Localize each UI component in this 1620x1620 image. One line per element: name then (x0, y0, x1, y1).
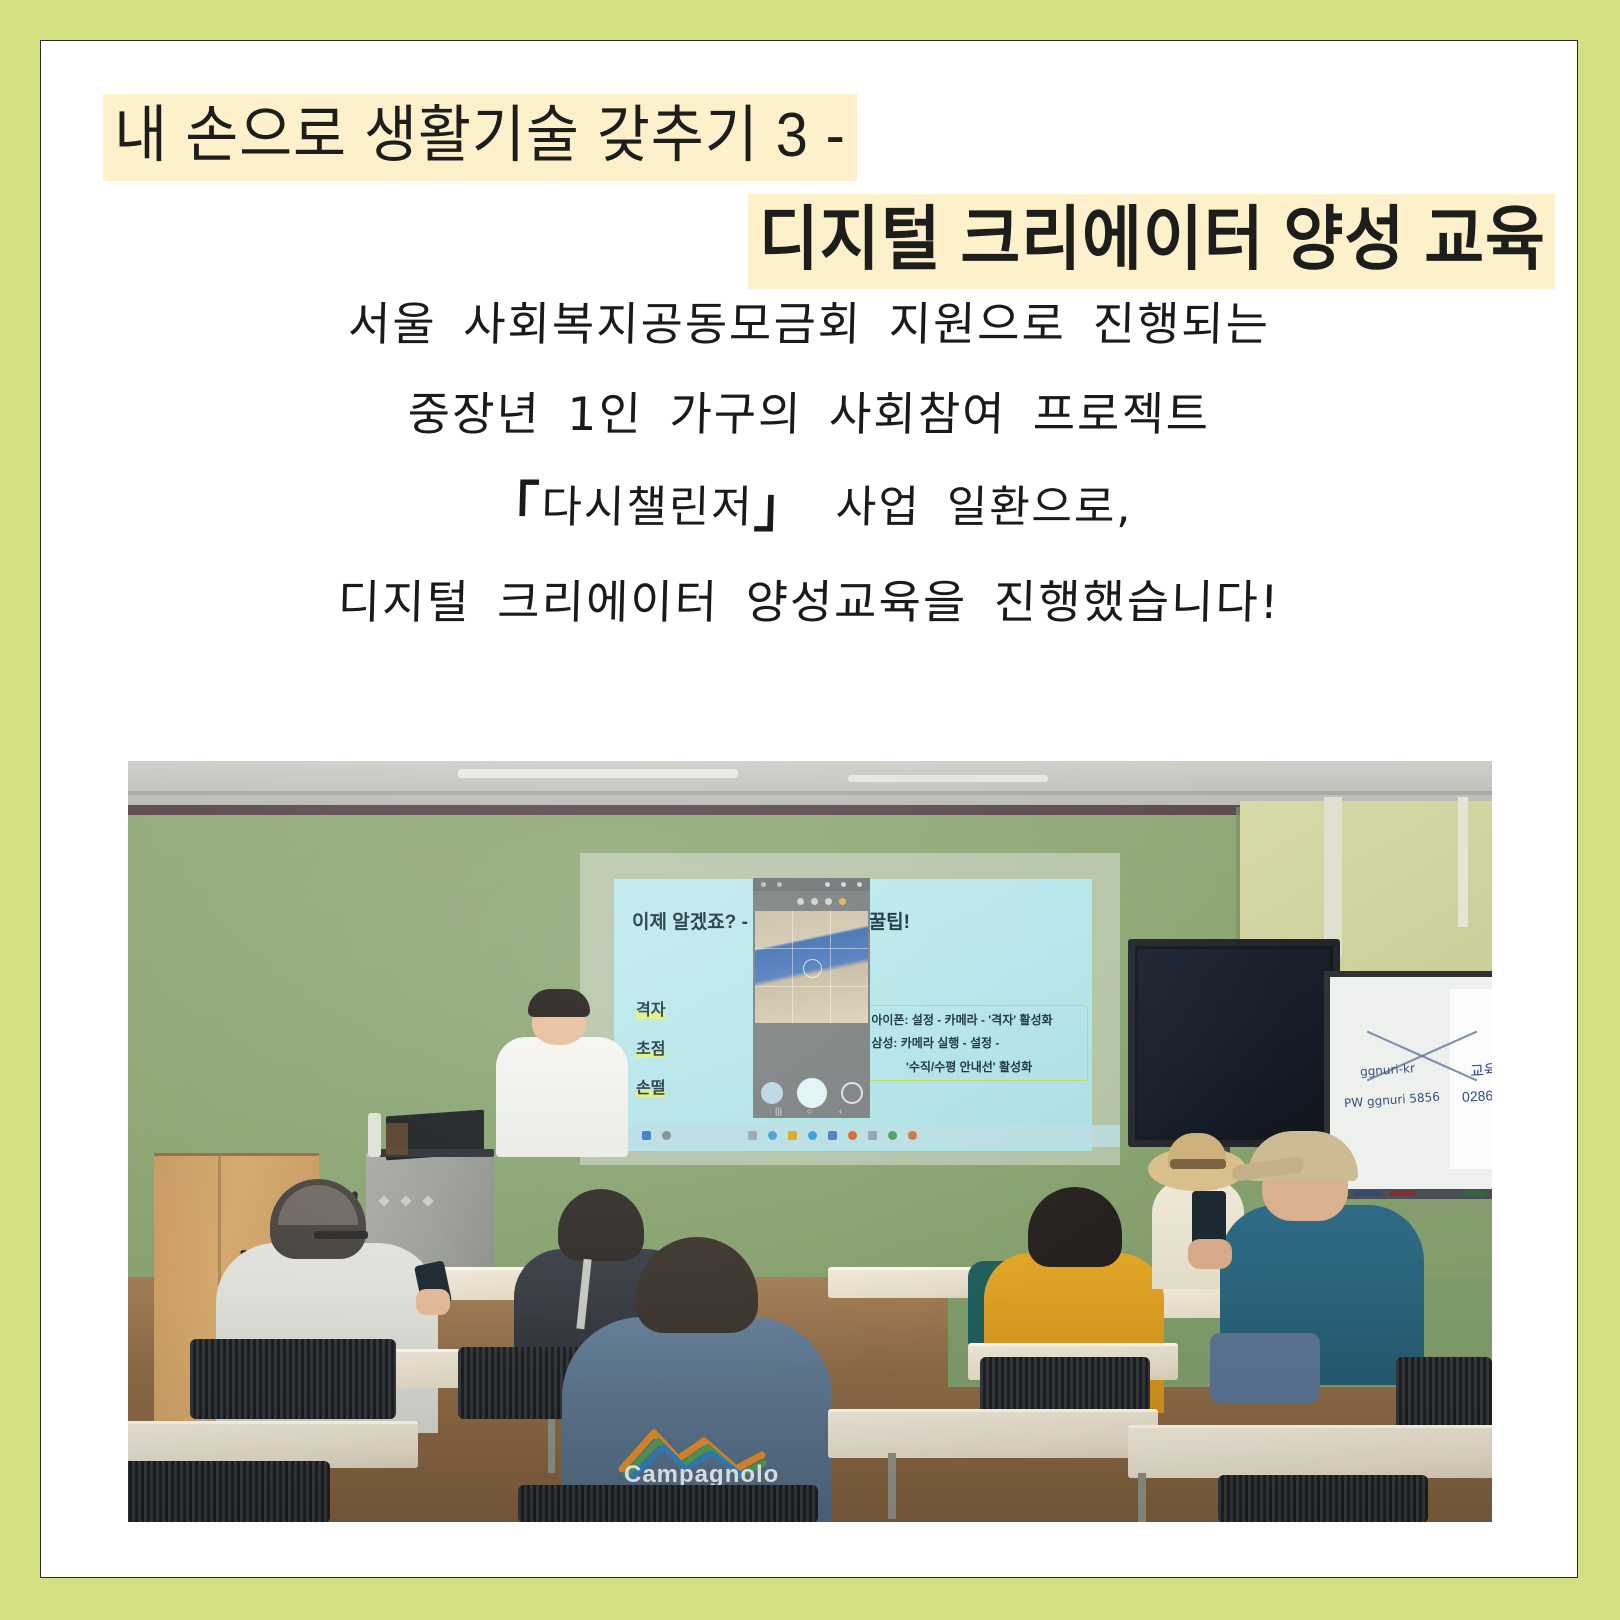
zoom-icon[interactable] (908, 1131, 917, 1140)
description-line-3: 「다시챌린저」 사업 일환으로, (40, 481, 1577, 535)
student-1-hand (416, 1289, 450, 1315)
description-line-4: 디지털 크리에이터 양성교육을 진행했습니다! (40, 579, 1577, 625)
ppt-icon[interactable] (828, 1131, 837, 1140)
slide-bullets: · 아이폰: 설정 - 카메라 - '격자' 활성화 · 삼성: 카메라 실행 … (864, 1009, 1086, 1079)
window-blind (1324, 797, 1342, 957)
home-icon[interactable]: ○ (807, 1106, 812, 1116)
chair-front-2 (1218, 1475, 1428, 1522)
flash-icon (797, 898, 804, 905)
iced-coffee-cup (386, 1123, 408, 1155)
ceiling-light-fixture (458, 769, 738, 778)
start-icon[interactable] (642, 1131, 651, 1140)
monitor-screen (1138, 949, 1330, 1137)
window-blind-cord (1458, 797, 1468, 927)
quote-open: 「 (485, 476, 543, 539)
marker-red (1390, 1191, 1416, 1196)
classroom-photo: 이제 알겠죠? - 스마트폰 촬영 꿀팁! 격자 초점 손떨 · 아이폰: 설정… (128, 761, 1492, 1522)
firefox-icon[interactable] (848, 1131, 857, 1140)
desk-front-right (828, 1409, 1158, 1458)
close-icon (857, 882, 862, 887)
title-block: 내 손으로 생활기술 갖추기 3 - 디지털 크리에이터 양성 교육 (41, 41, 1577, 289)
podium-vent (380, 1197, 450, 1205)
chair-back-1 (190, 1339, 396, 1419)
slide-bullet-3: '수직/수평 안내선' 활성화 (864, 1056, 1086, 1079)
music-icon[interactable] (868, 1131, 877, 1140)
slide-bullet-1: · 아이폰: 설정 - 카메라 - '격자' 활성화 (864, 1013, 1053, 1027)
search-icon[interactable] (662, 1131, 671, 1140)
chair-front-3 (518, 1485, 818, 1522)
whiteboard-room-label: 교육실 2 (1469, 1058, 1492, 1082)
quote-close: 」 (753, 476, 811, 539)
slide-keyword-1: 격자 (636, 1002, 665, 1019)
student-6-hand (1188, 1239, 1232, 1269)
description-line-2: 중장년 1인 가구의 사회참여 프로젝트 (40, 391, 1577, 437)
slide-keyword-3: 손떨 (636, 1080, 665, 1097)
gallery-thumb-button[interactable] (761, 1082, 783, 1104)
whiteboard-marker-tray (1324, 1189, 1492, 1199)
phone-status-bar (753, 896, 870, 908)
student-6-jeans (1210, 1333, 1320, 1403)
explorer-icon[interactable] (748, 1131, 757, 1140)
maximize-icon (841, 882, 846, 887)
recents-icon[interactable]: ||| (775, 1106, 782, 1116)
android-nav-bar: ||| ○ ‹ (753, 1106, 870, 1118)
whiteboard-phone-number: 028685108 (1462, 1085, 1492, 1105)
student-6-smartphone[interactable] (1192, 1191, 1226, 1245)
star-icon (777, 882, 782, 887)
desk-front-far-right (1128, 1425, 1492, 1478)
desk-leg-3 (1138, 1473, 1146, 1522)
whiteboard-note-wifi-ssid: ggnuri-kr (1360, 1061, 1416, 1079)
minimize-icon (825, 882, 830, 887)
back-icon[interactable]: ‹ (839, 1106, 842, 1116)
edge-icon[interactable] (768, 1131, 777, 1140)
kakao-icon[interactable] (888, 1131, 897, 1140)
chrome-icon[interactable] (808, 1131, 817, 1140)
water-bottle (368, 1113, 381, 1157)
camera-grid-overlay (755, 911, 868, 1023)
ceiling-light-fixture-2 (848, 775, 1048, 782)
marker-blue (1354, 1191, 1380, 1196)
chair-front-1 (128, 1461, 330, 1522)
folder-icon[interactable] (788, 1131, 797, 1140)
wall-monitor (1128, 939, 1340, 1147)
poster-card: 내 손으로 생활기술 갖추기 3 - 디지털 크리에이터 양성 교육 서울 사회… (40, 40, 1578, 1578)
student-1-glasses (314, 1231, 368, 1239)
whiteboard-note-wifi-pw: PW ggnuri 5856 (1344, 1090, 1441, 1111)
slide-keyword-2: 초점 (636, 1041, 665, 1058)
shutter-button[interactable] (797, 1078, 827, 1108)
project-name: 다시챌린저 (541, 482, 755, 533)
windows-taskbar (580, 1125, 1120, 1147)
timer-icon (811, 898, 818, 905)
instructor-body (496, 1037, 628, 1157)
window-titlebar (753, 878, 870, 891)
instructor-hair (528, 989, 590, 1017)
settings-icon (839, 898, 846, 905)
title-line-2: 디지털 크리에이터 양성 교육 (748, 194, 1555, 289)
description-line-1: 서울 사회복지공동모금회 지원으로 진행되는 (40, 301, 1577, 347)
phone-mirror-window: ||| ○ ‹ (753, 878, 870, 1118)
ratio-icon (825, 898, 832, 905)
title-line-1: 내 손으로 생활기술 갖추기 3 - (103, 94, 857, 181)
slide-bullet-2: · 삼성: 카메라 실행 - 설정 - (864, 1036, 999, 1050)
gear-icon (761, 882, 766, 887)
slide-left-keywords: 격자 초점 손떨 (636, 991, 746, 1109)
ceiling-seam (128, 791, 1492, 795)
marker-green (1464, 1191, 1486, 1196)
desk-leg-2 (888, 1453, 896, 1519)
description-block: 서울 사회복지공동모금회 지원으로 진행되는 중장년 1인 가구의 사회참여 프… (41, 301, 1577, 625)
flip-camera-button[interactable] (841, 1082, 863, 1104)
description-line-3-rest: 사업 일환으로, (835, 482, 1133, 533)
student-5-hat-band (1170, 1159, 1226, 1169)
